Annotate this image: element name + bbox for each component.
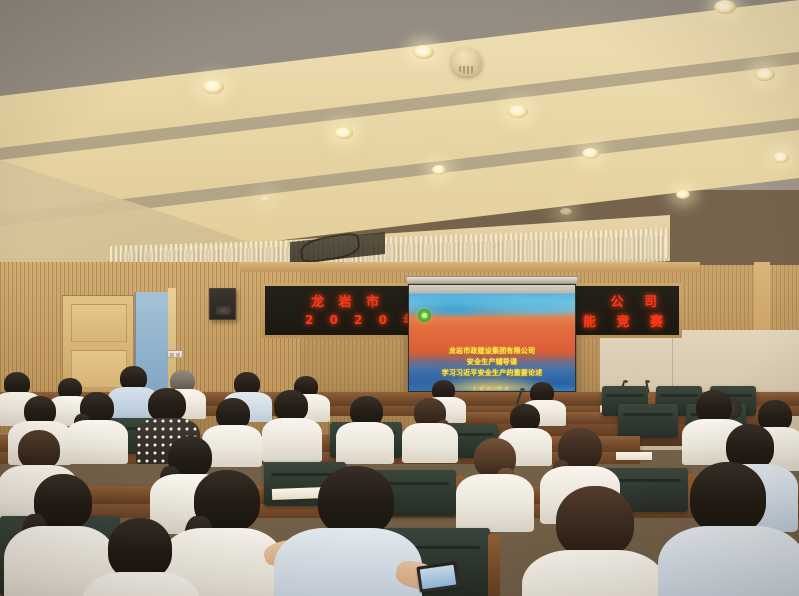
downlight-icon (676, 190, 690, 199)
wall-trim-top (240, 262, 700, 272)
mobile-phone[interactable] (416, 561, 459, 592)
downlight-icon (260, 196, 271, 202)
light-switch-plate[interactable] (167, 350, 183, 358)
led-banner-line1-left: 龙 岩 市 (311, 291, 384, 310)
led-banner-line2-left: 2 0 2 0 年 (305, 311, 421, 328)
attendee-head (148, 388, 186, 422)
document-on-desk (616, 452, 652, 460)
conference-hall-photo: 龙 岩 市 2 0 2 0 年 公 司 能 竞 赛 龙岩市政建设集团有限公司 安… (0, 0, 799, 596)
downlight-icon (560, 208, 572, 215)
attendee-head (108, 518, 172, 580)
presentation-slide: 龙岩市政建设集团有限公司 安全生产辅导课 学习习近平安全生产的重要论述 主讲人 … (409, 294, 575, 392)
downlight-icon (334, 127, 353, 139)
microphone-head-icon (623, 380, 628, 383)
company-logo-icon (418, 309, 431, 322)
smoke-detector-icon (452, 48, 482, 76)
attendee-torso (262, 418, 322, 462)
downlight-icon (755, 68, 775, 81)
downlight-icon (413, 45, 434, 59)
door-panel-upper (71, 304, 127, 342)
downlight-icon (432, 165, 446, 175)
downlight-icon (582, 148, 599, 159)
attendee-torso (522, 550, 666, 596)
led-banner-line2-right: 能 竞 赛 (583, 311, 671, 330)
downlight-icon (714, 0, 736, 14)
projection-screen: 龙岩市政建设集团有限公司 安全生产辅导课 学习习近平安全生产的重要论述 主讲人 … (408, 284, 576, 392)
attendee-head (556, 486, 634, 558)
wall-panel-seam (672, 330, 673, 392)
phone-screen (420, 565, 456, 590)
slide-title-line1: 龙岩市政建设集团有限公司 (409, 346, 575, 356)
wall-speaker-icon (209, 288, 236, 320)
attendee-head (18, 430, 60, 470)
attendee-torso (456, 474, 534, 532)
attendee-torso (658, 526, 799, 596)
microphone-head-icon (645, 380, 650, 383)
downlight-icon (773, 152, 789, 163)
downlight-icon (202, 80, 224, 94)
slide-sky-graphic (408, 294, 576, 316)
chair-arm (488, 534, 500, 596)
screen-top-band (409, 285, 575, 294)
led-banner-line1-right: 公 司 (610, 291, 665, 310)
projection-screen-housing (406, 276, 578, 284)
attendee-head (318, 466, 394, 536)
microphone-head-icon (520, 388, 525, 391)
attendee-torso (336, 422, 394, 464)
downlight-icon (508, 105, 528, 118)
attendee-torso (66, 420, 128, 464)
attendee-head (690, 462, 766, 534)
slide-title-line2: 安全生产辅导课 (409, 357, 575, 367)
slide-title-line3: 学习习近平安全生产的重要论述 (409, 368, 575, 378)
empty-chair (618, 404, 678, 438)
attendee-torso (402, 423, 458, 463)
